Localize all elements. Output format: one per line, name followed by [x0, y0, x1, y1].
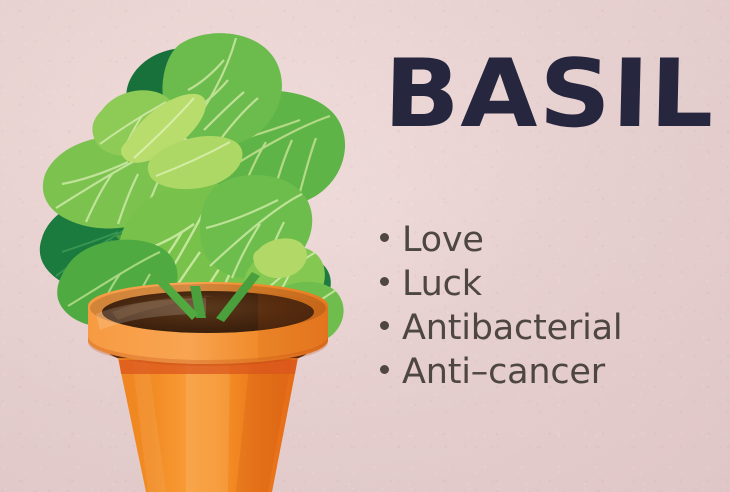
- text-column: BASIL Love Luck Antibacterial Anti–cance…: [380, 0, 730, 492]
- list-item: Love: [380, 218, 622, 262]
- benefits-list: Love Luck Antibacterial Anti–cancer: [380, 218, 622, 394]
- list-item: Antibacterial: [380, 306, 622, 350]
- benefit-label: Antibacterial: [402, 306, 622, 350]
- benefit-label: Anti–cancer: [402, 350, 605, 394]
- flower-pot: [88, 272, 328, 492]
- list-item: Luck: [380, 262, 622, 306]
- basil-infographic-card: BASIL Love Luck Antibacterial Anti–cance…: [0, 0, 730, 492]
- list-item: Anti–cancer: [380, 350, 622, 394]
- benefit-label: Love: [402, 218, 484, 262]
- bullet-icon: [380, 365, 389, 374]
- bullet-icon: [380, 233, 389, 242]
- page-title: BASIL: [383, 48, 716, 142]
- benefit-label: Luck: [402, 262, 482, 306]
- bullet-icon: [380, 321, 389, 330]
- bullet-icon: [380, 277, 389, 286]
- basil-plant-illustration: [0, 0, 370, 492]
